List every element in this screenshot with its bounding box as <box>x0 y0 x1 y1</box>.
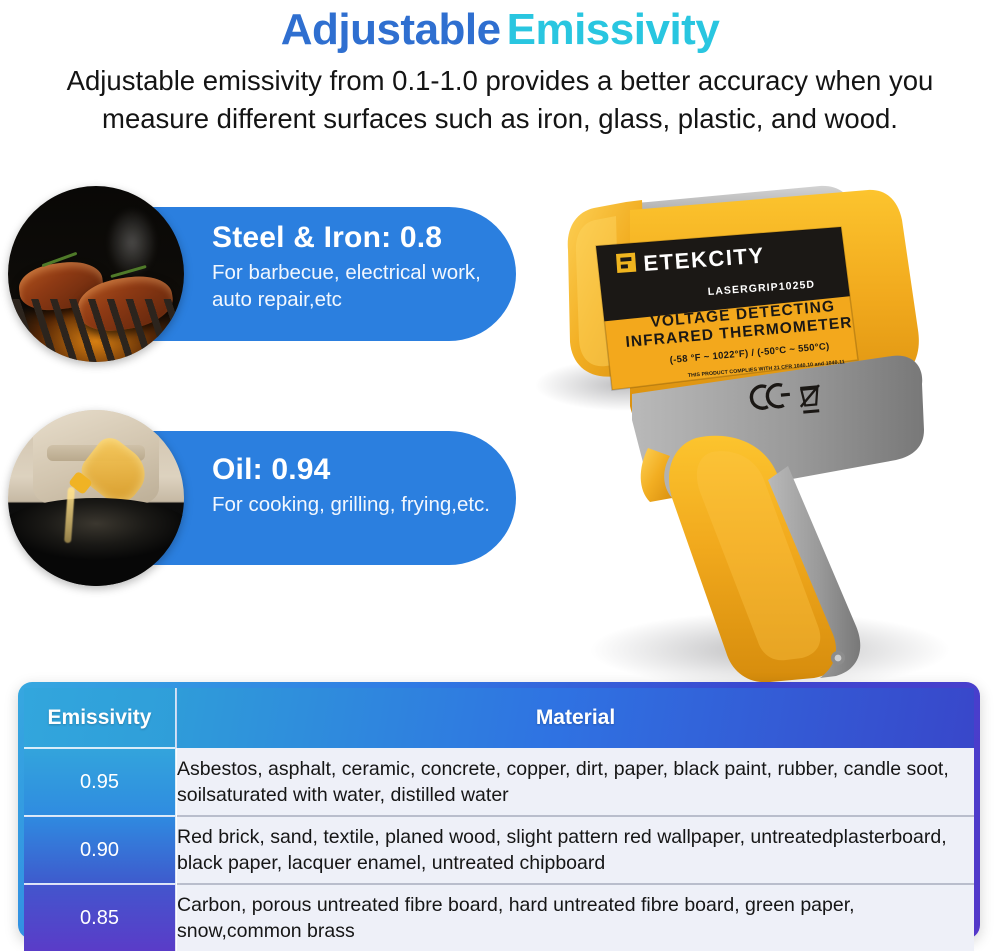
product-image-infrared-thermometer: ETEKCITY LASERGRIP1025D VOLTAGE DETECTIN… <box>520 180 1000 690</box>
page-subtitle: Adjustable emissivity from 0.1-1.0 provi… <box>28 62 972 138</box>
emissivity-value: 0.95 <box>24 748 176 816</box>
feature-text-block: Oil: 0.94 For cooking, grilling, frying,… <box>212 452 512 518</box>
table-header-row: Emissivity Material <box>24 688 974 748</box>
table-row: 0.85 Carbon, porous untreated fibre boar… <box>24 884 974 951</box>
column-header-material: Material <box>176 688 974 748</box>
cooking-oil-photo <box>8 410 184 586</box>
feature-title: Steel & Iron: 0.8 <box>212 220 512 256</box>
title-part-two: Emissivity <box>507 5 720 54</box>
feature-description: For cooking, grilling, frying,etc. <box>212 491 512 518</box>
feature-text-block: Steel & Iron: 0.8 For barbecue, electric… <box>212 220 512 313</box>
infographic-page: AdjustableEmissivity Adjustable emissivi… <box>0 0 1000 939</box>
column-header-emissivity: Emissivity <box>24 688 176 748</box>
emissivity-value: 0.90 <box>24 816 176 884</box>
emissivity-table: Emissivity Material 0.95 Asbestos, aspha… <box>18 682 980 939</box>
barbecue-photo <box>8 186 184 362</box>
page-title: AdjustableEmissivity <box>0 2 1000 58</box>
table-row: 0.90 Red brick, sand, textile, planed wo… <box>24 816 974 884</box>
table-row: 0.95 Asbestos, asphalt, ceramic, concret… <box>24 748 974 816</box>
feature-description: For barbecue, electrical work, auto repa… <box>212 259 512 313</box>
emissivity-value: 0.85 <box>24 884 176 951</box>
material-value: Asbestos, asphalt, ceramic, concrete, co… <box>176 748 974 816</box>
feature-title: Oil: 0.94 <box>212 452 512 488</box>
material-value: Red brick, sand, textile, planed wood, s… <box>176 816 974 884</box>
title-part-one: Adjustable <box>281 5 501 54</box>
material-value: Carbon, porous untreated fibre board, ha… <box>176 884 974 951</box>
